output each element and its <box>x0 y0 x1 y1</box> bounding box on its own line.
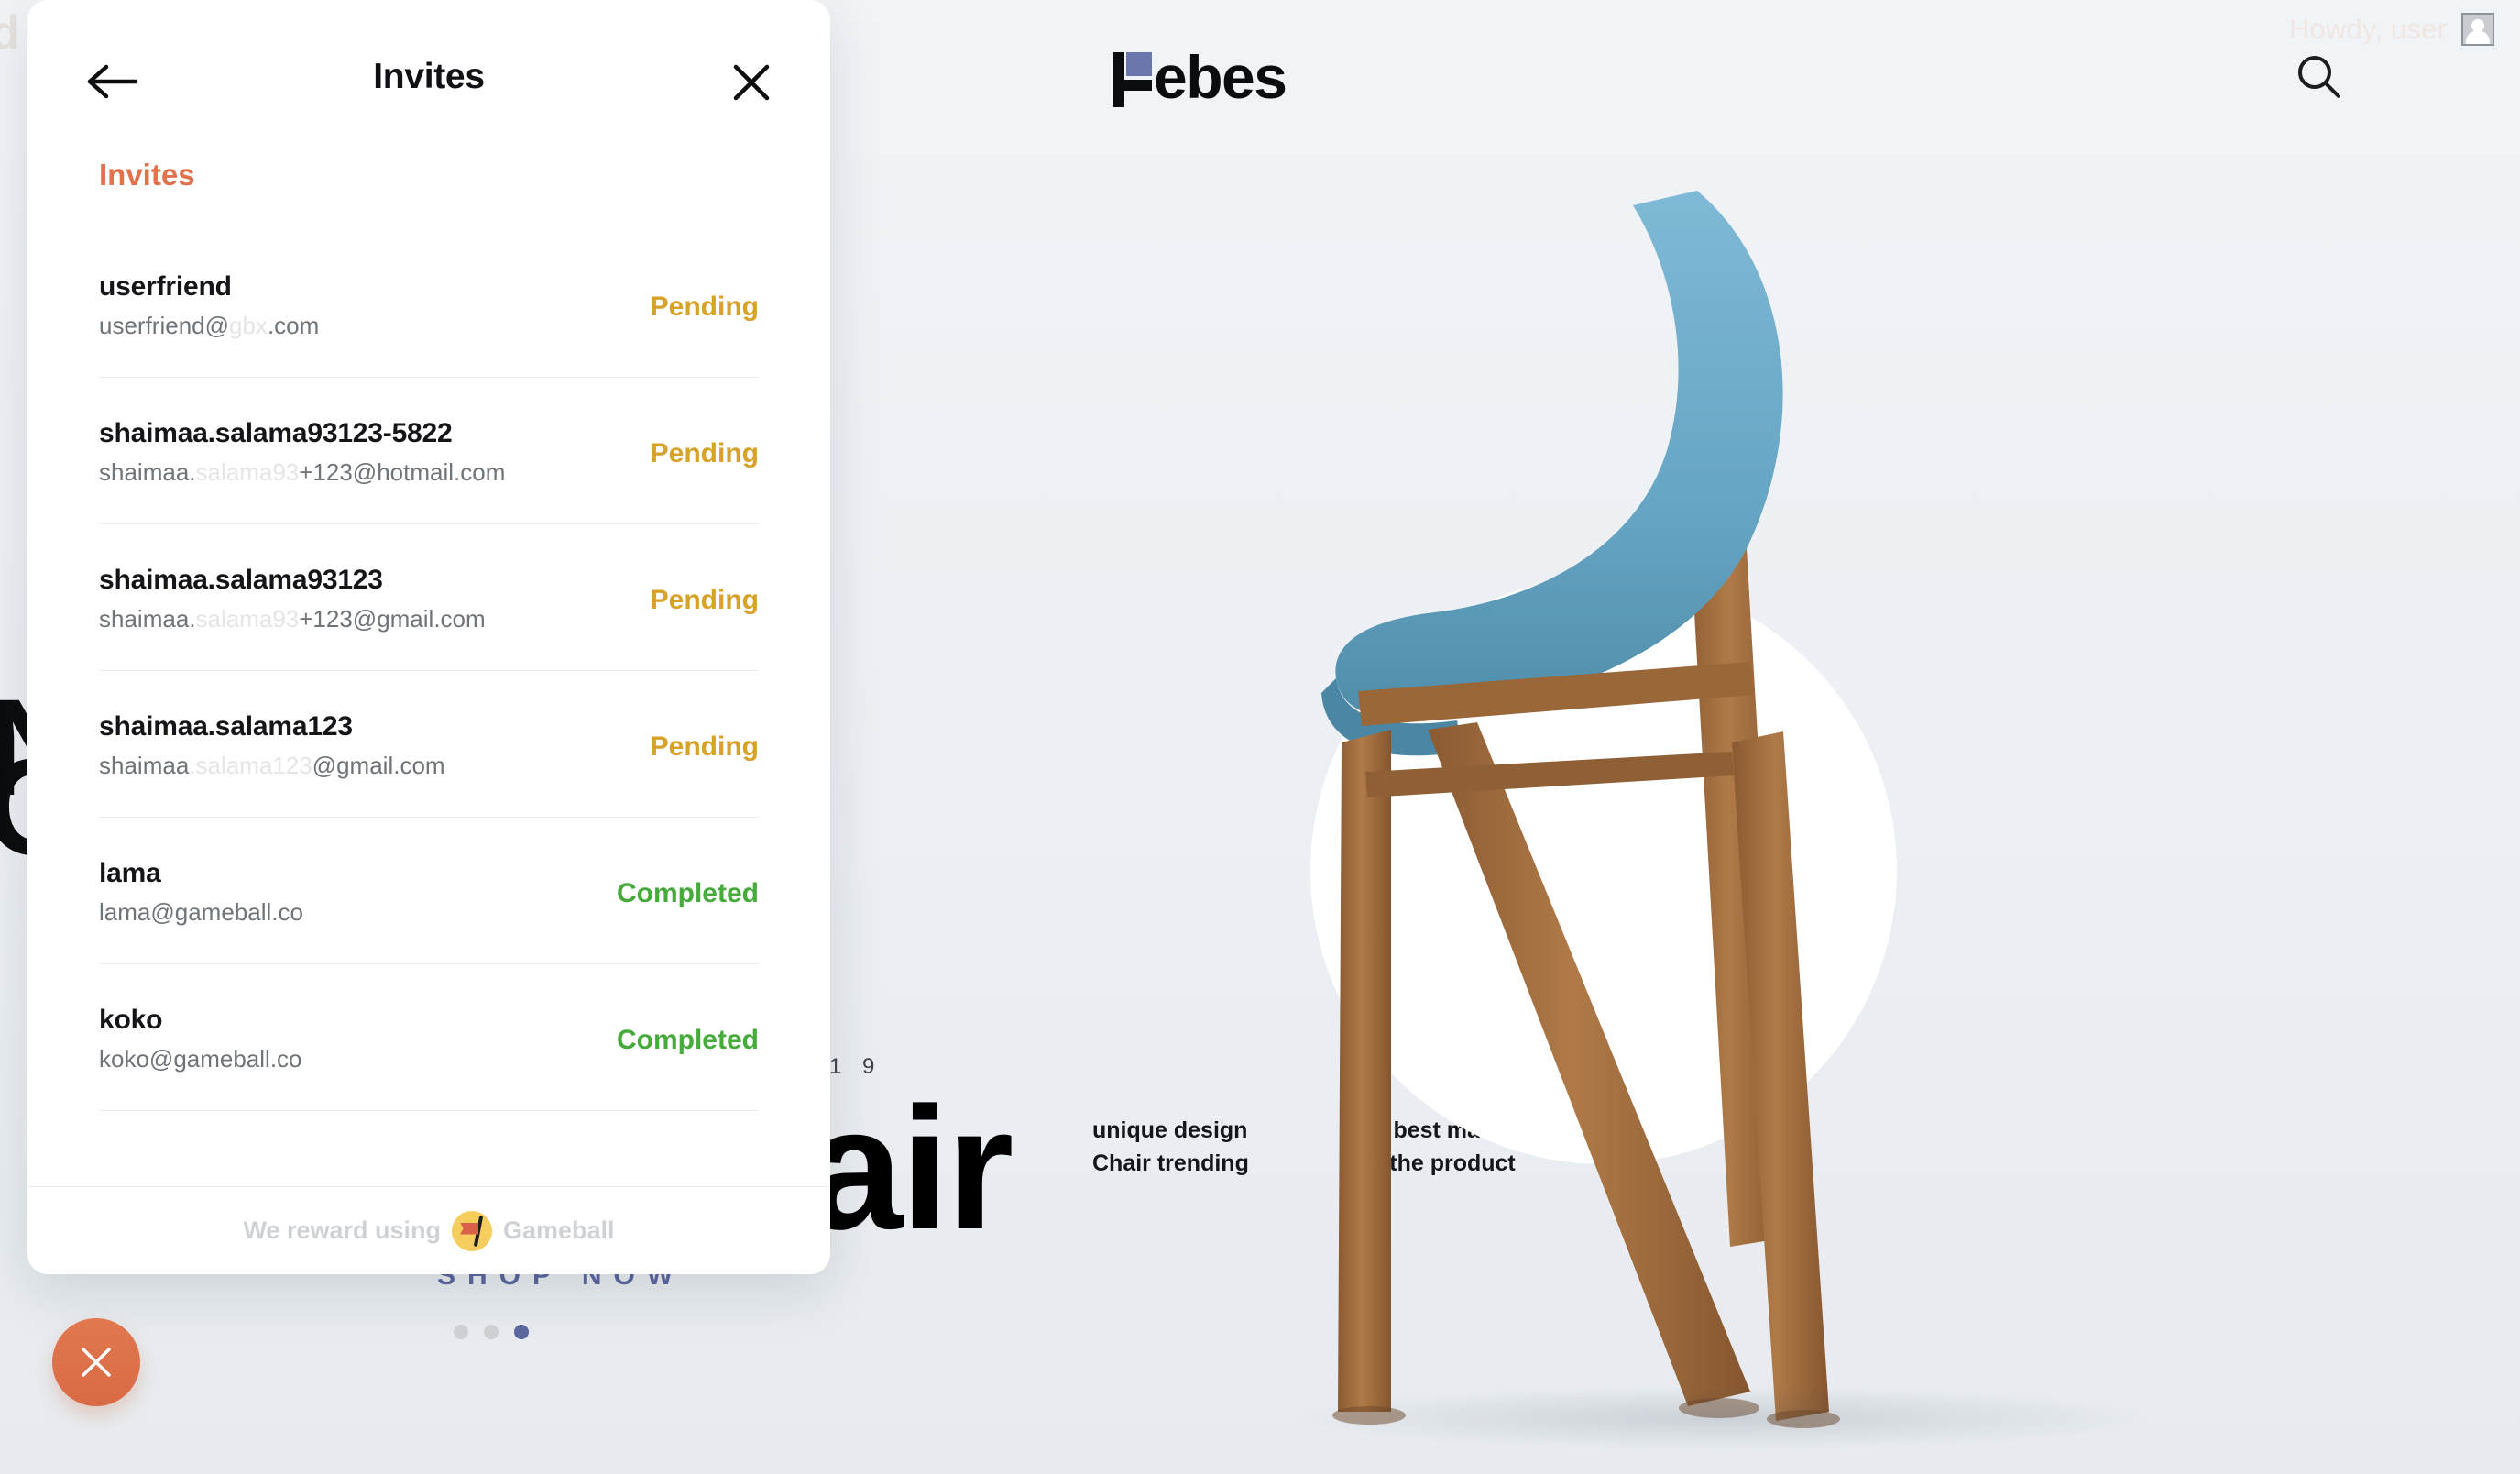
close-icon <box>77 1343 115 1381</box>
close-icon[interactable] <box>729 60 773 104</box>
invite-row[interactable]: userfrienduserfriend@gbx.comPending <box>99 271 759 378</box>
status-badge: Pending <box>651 731 759 763</box>
invite-row[interactable]: kokokoko@gameball.coCompleted <box>99 1005 759 1111</box>
invite-identity: userfrienduserfriend@gbx.com <box>99 271 319 340</box>
invite-email-tail: +123@gmail.com <box>299 605 485 632</box>
invites-list[interactable]: userfrienduserfriend@gbx.comPendingshaim… <box>27 163 830 1186</box>
invite-name: koko <box>99 1005 302 1036</box>
hero-note-left-line1: unique design <box>1092 1114 1249 1147</box>
invite-email-visible: shaimaa. <box>99 458 196 486</box>
invite-email: lama@gameball.co <box>99 898 303 927</box>
invite-email-tail: .com <box>268 312 319 339</box>
status-badge: Completed <box>617 878 759 909</box>
invite-identity: shaimaa.salama93123-5822shaimaa.salama93… <box>99 418 505 487</box>
carousel-dot-1[interactable] <box>454 1325 468 1339</box>
invite-email-masked: salama93 <box>196 605 300 632</box>
status-badge: Pending <box>651 585 759 616</box>
invite-email: shaimaa.salama93+123@gmail.com <box>99 605 486 633</box>
panel-header: Invites Invites <box>27 0 830 163</box>
invite-name: shaimaa.salama93123-5822 <box>99 418 505 449</box>
invite-name: shaimaa.salama123 <box>99 711 445 742</box>
ghost-letter-d: d <box>0 5 20 60</box>
status-badge: Pending <box>651 438 759 469</box>
carousel-dots[interactable] <box>454 1325 529 1339</box>
invite-email-visible: shaimaa. <box>99 605 196 632</box>
panel-title: Invites <box>27 57 830 97</box>
close-widget-button[interactable] <box>52 1318 140 1406</box>
footer-brand-text: Gameball <box>503 1216 615 1245</box>
hero-note-left-line2: Chair trending <box>1092 1147 1249 1180</box>
section-label: Invites <box>99 158 195 192</box>
carousel-dot-2[interactable] <box>484 1325 499 1339</box>
invite-email-visible: shaimaa <box>99 752 189 779</box>
invite-identity: kokokoko@gameball.co <box>99 1005 302 1073</box>
invite-email-masked: .salama123 <box>189 752 312 779</box>
invites-panel: Invites Invites userfrienduserfriend@gbx… <box>27 0 830 1274</box>
product-image <box>1274 110 2520 1474</box>
status-badge: Pending <box>651 291 759 323</box>
brand-logo[interactable]: ebes <box>1113 42 1286 112</box>
invite-email-masked: salama93 <box>196 458 300 486</box>
invite-row[interactable]: shaimaa.salama123shaimaa.salama123@gmail… <box>99 711 759 818</box>
greeting-text: Howdy, user <box>2289 13 2447 46</box>
invite-name: shaimaa.salama93123 <box>99 565 486 596</box>
brand-h-mark-icon <box>1113 47 1156 107</box>
invite-name: userfriend <box>99 271 319 302</box>
invite-row[interactable]: lamalama@gameball.coCompleted <box>99 858 759 964</box>
invite-row[interactable]: shaimaa.salama93123-5822shaimaa.salama93… <box>99 418 759 524</box>
invite-name: lama <box>99 858 303 889</box>
invite-email: koko@gameball.co <box>99 1045 302 1073</box>
search-icon[interactable] <box>2293 50 2346 104</box>
status-badge: Completed <box>617 1025 759 1056</box>
invite-email-visible: koko@gameball.co <box>99 1045 302 1072</box>
panel-footer: We reward using Gameball <box>27 1186 830 1274</box>
carousel-dot-3[interactable] <box>514 1325 529 1339</box>
brand-wordmark: ebes <box>1154 42 1286 112</box>
invite-email: shaimaa.salama123@gmail.com <box>99 752 445 780</box>
invite-email-tail: @gmail.com <box>312 752 445 779</box>
invite-email-visible: userfriend@ <box>99 312 229 339</box>
invite-email-tail: +123@hotmail.com <box>299 458 505 486</box>
footer-prefix-text: We reward using <box>243 1216 441 1245</box>
invite-email: shaimaa.salama93+123@hotmail.com <box>99 458 505 487</box>
invite-identity: shaimaa.salama123shaimaa.salama123@gmail… <box>99 711 445 780</box>
hero-headline: air <box>806 1082 1011 1256</box>
invite-email: userfriend@gbx.com <box>99 312 319 340</box>
invite-row[interactable]: shaimaa.salama93123shaimaa.salama93+123@… <box>99 565 759 671</box>
gameball-flag-icon <box>452 1211 492 1251</box>
invite-identity: shaimaa.salama93123shaimaa.salama93+123@… <box>99 565 486 633</box>
invite-identity: lamalama@gameball.co <box>99 858 303 927</box>
invite-email-visible: lama@gameball.co <box>99 898 303 926</box>
hero-note-left: unique design Chair trending <box>1092 1114 1249 1181</box>
chair-illustration <box>1274 110 2520 1474</box>
account-greeting[interactable]: Howdy, user <box>2289 13 2494 46</box>
user-avatar-icon[interactable] <box>2461 13 2494 46</box>
product-shadow <box>1292 1386 2153 1450</box>
invite-email-masked: gbx <box>229 312 268 339</box>
